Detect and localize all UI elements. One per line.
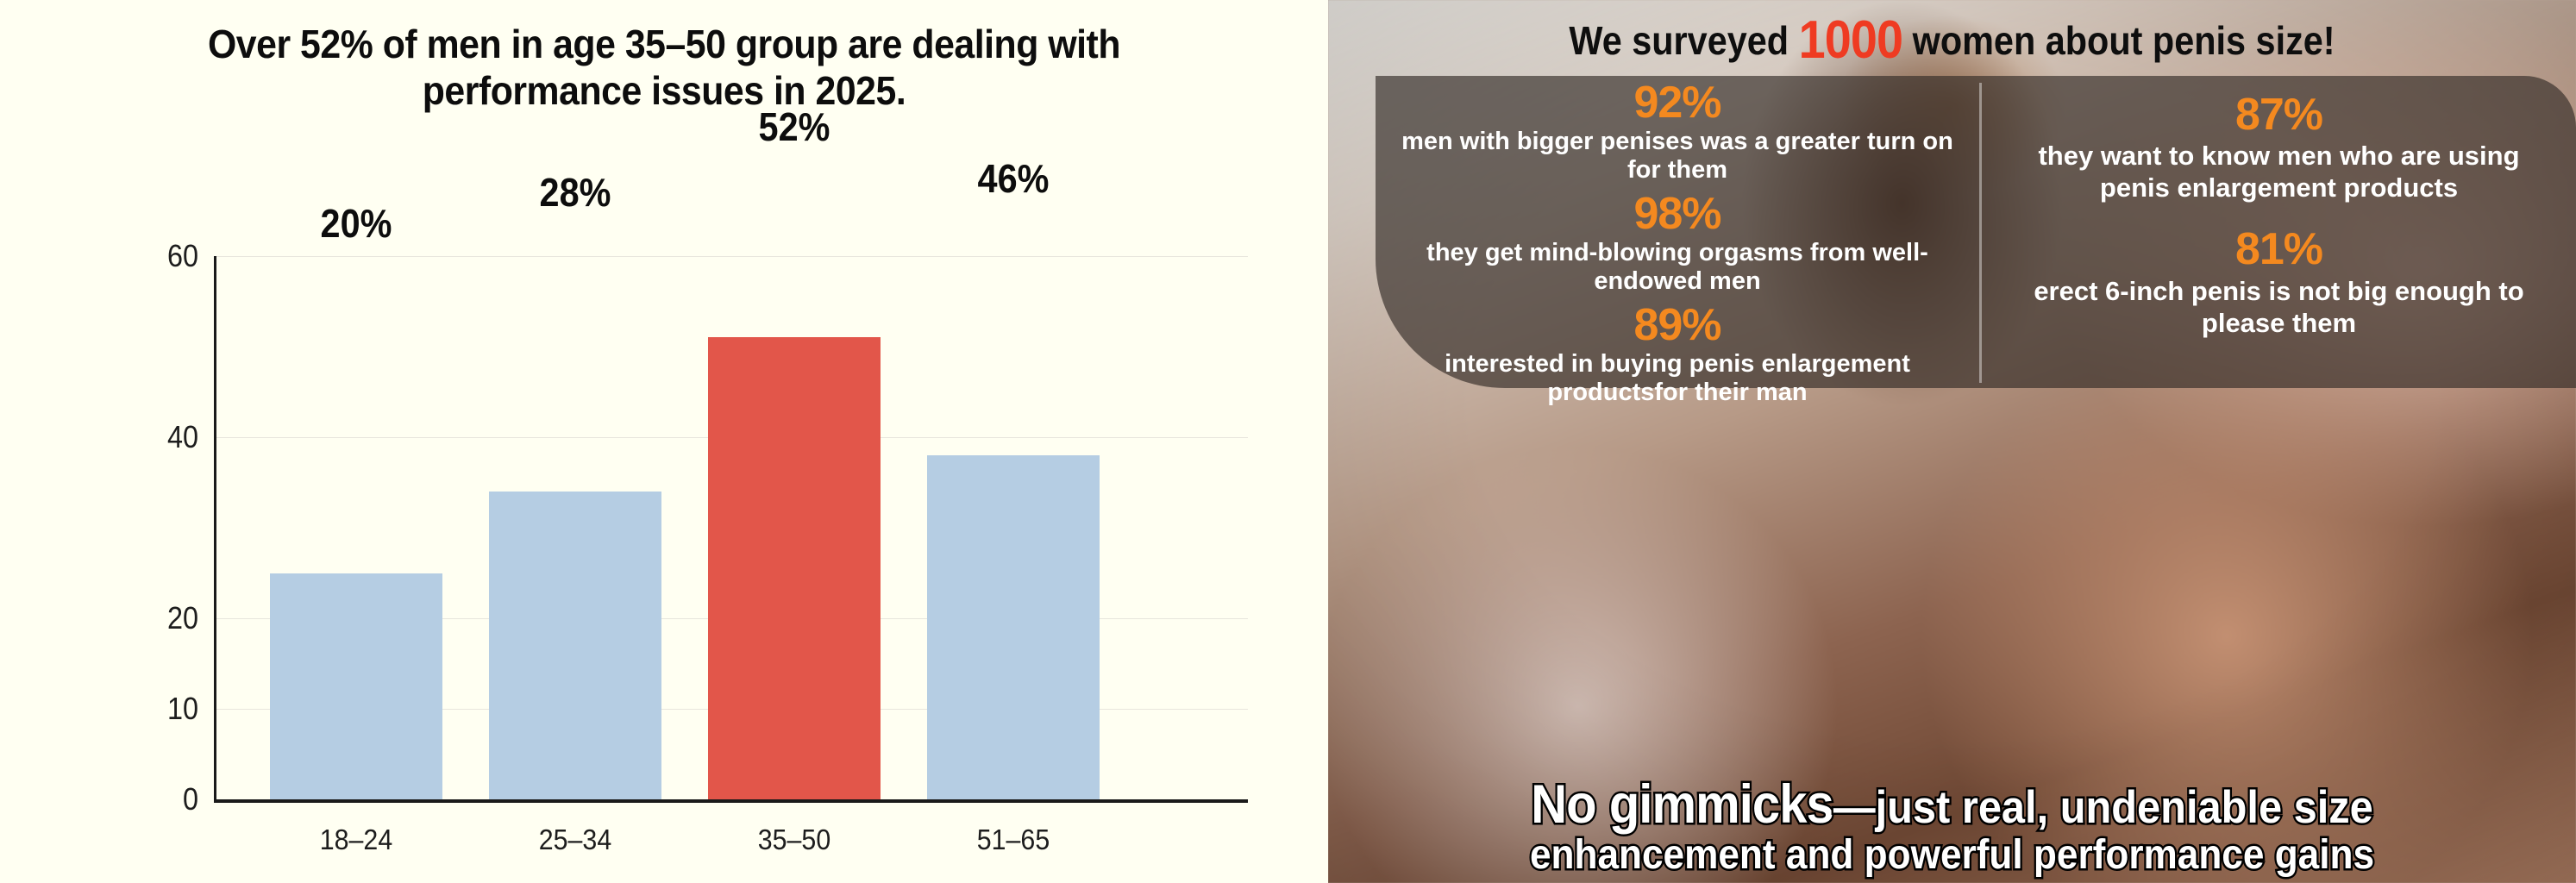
stat-desc-92: men with bigger penises was a greater tu… [1391, 127, 1964, 184]
footer-strong: No gimmicks [1531, 774, 1833, 835]
bar-35-50[interactable] [708, 337, 881, 799]
stats-column-right: 87% they want to know men who are using … [1982, 76, 2576, 388]
chart-title: Over 52% of men in age 35–50 group are d… [95, 21, 1234, 115]
bar-value-25-34: 28% [474, 169, 676, 216]
bar-51-65[interactable] [927, 455, 1100, 799]
stat-pct-92: 92% [1391, 79, 1964, 127]
footer-banner: No gimmicks—just real, undeniable size e… [1378, 776, 2526, 878]
y-axis-line [214, 256, 216, 802]
stat-pct-87: 87% [1997, 91, 2560, 139]
stats-column-left: 92% men with bigger penises was a greate… [1376, 76, 1979, 388]
y-tick-label-10: 10 [105, 691, 198, 727]
chart-panel: Over 52% of men in age 35–50 group are d… [0, 0, 1328, 883]
y-tick-label-20: 20 [105, 600, 198, 636]
headline-prefix: We surveyed [1569, 18, 1798, 63]
x-tick-label-18-24: 18–24 [253, 824, 459, 856]
spacer [1997, 204, 2560, 226]
x-tick-label-35-50: 35–50 [691, 824, 897, 856]
footer-rest: —just real, undeniable size [1833, 782, 2373, 833]
stat-pct-89: 89% [1391, 302, 1964, 349]
y-tick-label-0: 0 [105, 781, 198, 817]
y-tick-label-60: 60 [105, 238, 198, 274]
bar-value-35-50: 52% [693, 103, 895, 150]
stat-desc-98: they get mind-blowing orgasms from well-… [1391, 238, 1964, 295]
gridline-60 [214, 256, 1248, 257]
bar-18-24[interactable] [270, 573, 442, 799]
stat-desc-81: erect 6-inch penis is not big enough to … [1997, 274, 2560, 339]
headline-sample-size: 1000 [1799, 10, 1903, 70]
stats-box: 92% men with bigger penises was a greate… [1376, 76, 2576, 388]
x-tick-label-25-34: 25–34 [472, 824, 678, 856]
survey-panel: We surveyed 1000 women about penis size!… [1328, 0, 2576, 883]
stats-overlay: 92% men with bigger penises was a greate… [1376, 76, 2576, 388]
footer-line-1: No gimmicks—just real, undeniable size [1378, 776, 2526, 834]
y-tick-label-40: 40 [105, 419, 198, 455]
headline-suffix: women about penis size! [1902, 18, 2335, 63]
x-axis-line [214, 799, 1248, 803]
bar-25-34[interactable] [489, 492, 661, 799]
footer-line-2: enhancement and powerful performance gai… [1378, 834, 2526, 878]
stat-pct-81: 81% [1997, 226, 2560, 273]
x-tick-label-51-65: 51–65 [910, 824, 1116, 856]
stat-desc-87: they want to know men who are using peni… [1997, 139, 2560, 204]
bar-value-18-24: 20% [255, 200, 457, 247]
survey-headline: We surveyed 1000 women about penis size! [1390, 14, 2513, 67]
bar-value-51-65: 46% [912, 155, 1114, 202]
stat-desc-89: interested in buying penis enlargement p… [1391, 349, 1964, 406]
stat-pct-98: 98% [1391, 191, 1964, 238]
